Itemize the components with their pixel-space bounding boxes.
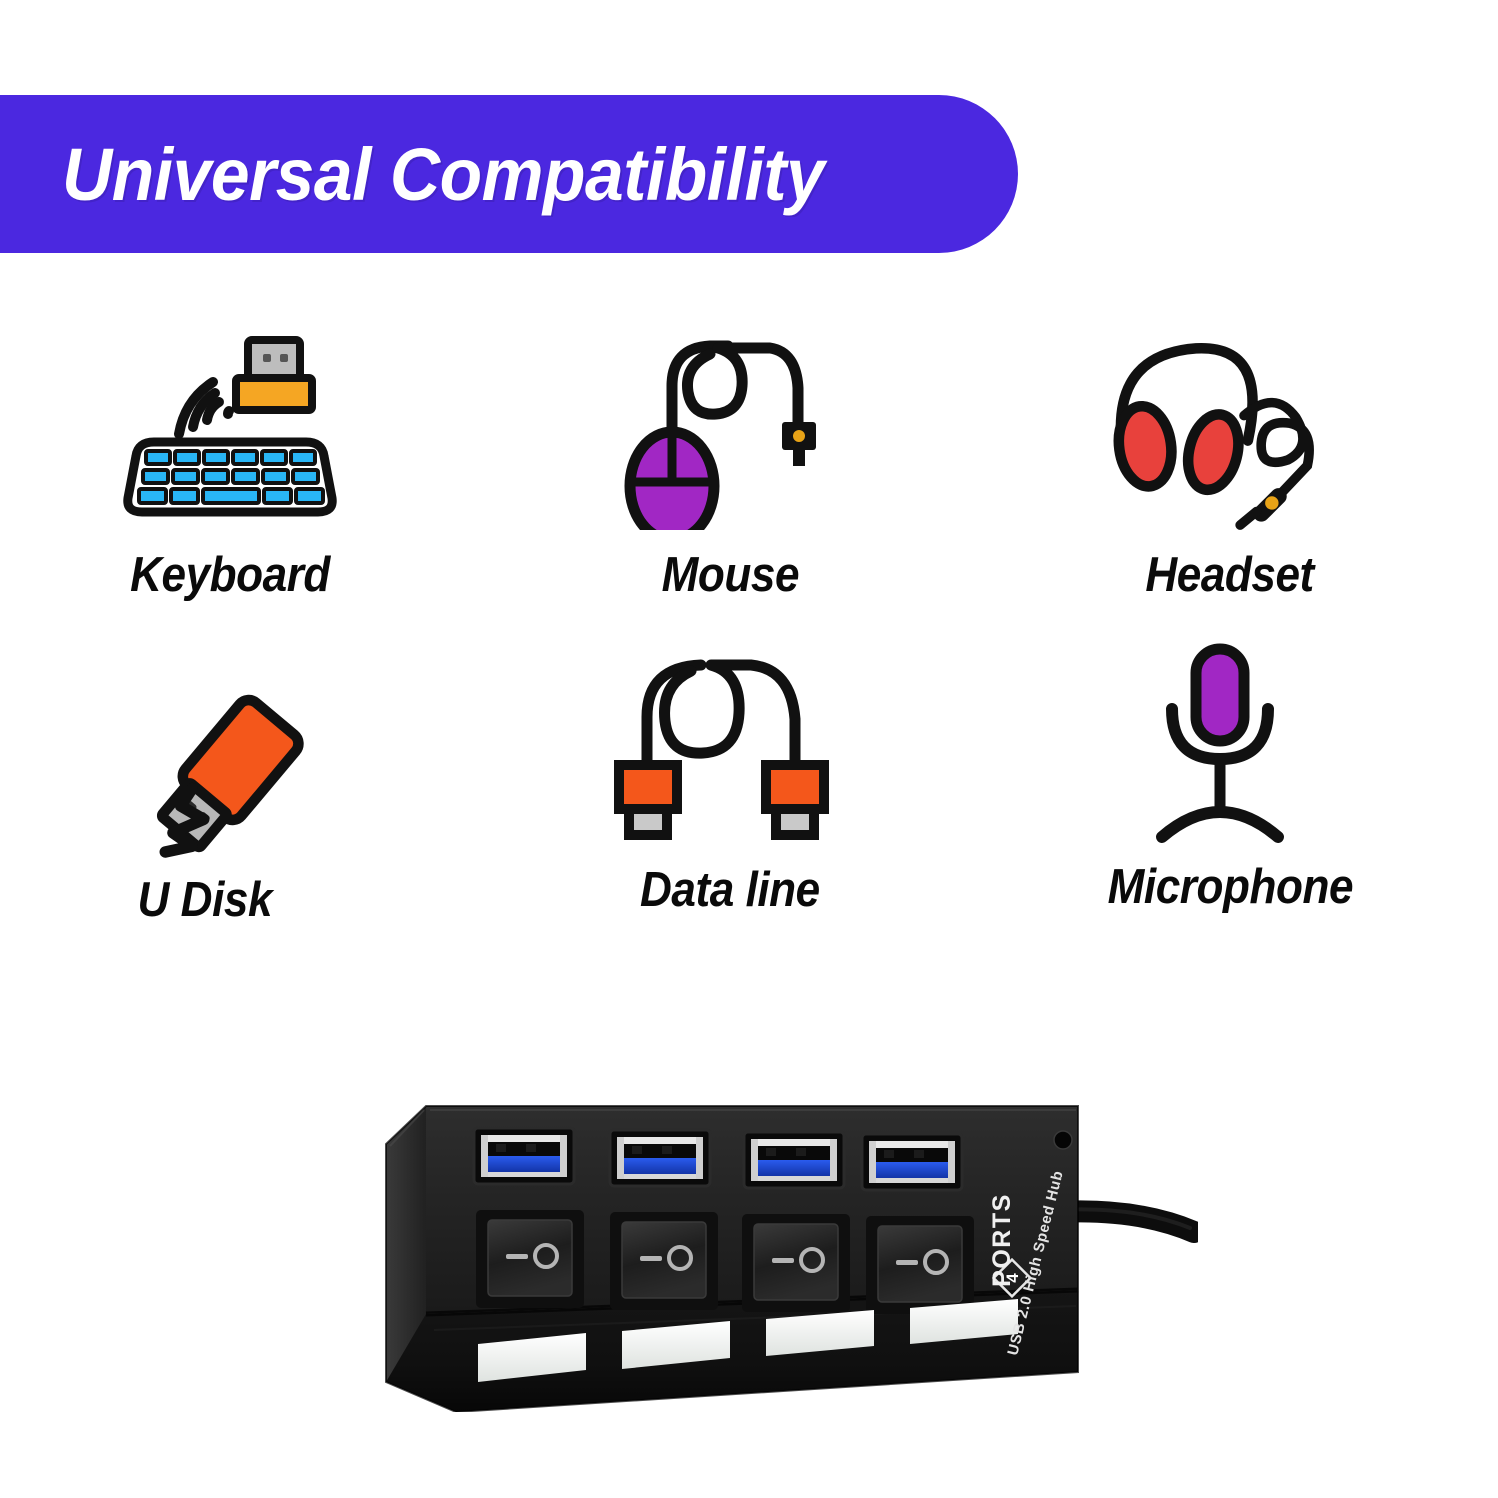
compat-item-headset: Headset xyxy=(1000,330,1440,610)
compat-item-dataline: Data line xyxy=(505,645,945,925)
compat-label-udisk: U Disk xyxy=(138,872,273,928)
usb-port-1 xyxy=(474,1128,574,1184)
microphone-icon xyxy=(1100,642,1340,842)
headset-icon xyxy=(1100,330,1340,530)
power-switch-4 xyxy=(866,1216,974,1314)
compat-label-keyboard: Keyboard xyxy=(130,547,330,603)
compat-label-microphone: Microphone xyxy=(1107,859,1352,915)
keyboard-icon xyxy=(110,330,350,530)
power-switch-2 xyxy=(610,1212,718,1310)
compat-label-headset: Headset xyxy=(1146,547,1314,603)
power-switch-3 xyxy=(742,1214,850,1312)
data-cable-icon xyxy=(605,645,845,845)
compat-item-mouse: Mouse xyxy=(510,330,950,610)
usb-port-2 xyxy=(610,1130,710,1186)
page-title: Universal Compatibility xyxy=(62,132,824,217)
mouse-icon xyxy=(610,330,850,530)
ports-label-text: PORTS xyxy=(988,1193,1016,1287)
power-switch-1 xyxy=(476,1210,584,1308)
header-banner: Universal Compatibility xyxy=(0,95,1018,253)
compat-label-dataline: Data line xyxy=(640,862,820,918)
usb-flash-drive-icon xyxy=(100,655,340,855)
compat-item-udisk: U Disk xyxy=(0,655,440,935)
usb-port-4 xyxy=(862,1134,962,1190)
usb-port-3 xyxy=(744,1132,844,1188)
compat-label-mouse: Mouse xyxy=(661,547,798,603)
compat-item-microphone: Microphone xyxy=(1000,642,1440,922)
compatibility-grid: Keyboard Mouse xyxy=(0,330,1498,1010)
usb-hub-product-photo: 4 PORTS USB 2.0 High Speed Hub xyxy=(378,1082,1198,1412)
compat-item-keyboard: Keyboard xyxy=(10,330,450,610)
